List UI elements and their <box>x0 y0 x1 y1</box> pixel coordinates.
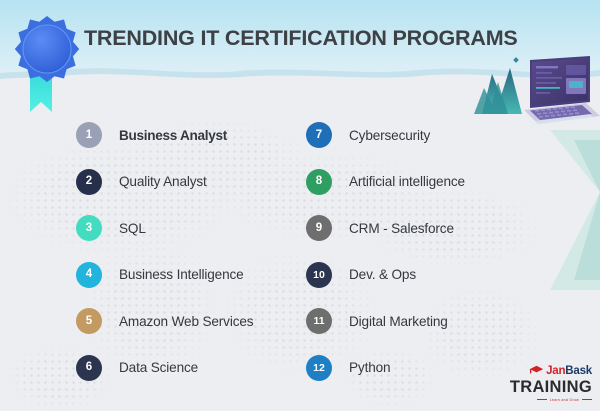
logo-text-jan: Jan <box>546 365 565 377</box>
list-item[interactable]: 3 SQL <box>76 205 306 252</box>
item-label: CRM - Salesforce <box>349 221 454 236</box>
item-label: Dev. & Ops <box>349 267 416 282</box>
item-number-badge: 9 <box>306 215 332 241</box>
logo-tagline: Learn and Grow <box>550 398 579 402</box>
item-number-badge: 4 <box>76 262 102 288</box>
list-item[interactable]: 9 CRM - Salesforce <box>306 205 556 252</box>
list-item[interactable]: 11 Digital Marketing <box>306 298 556 345</box>
certification-list-left: 1 Business Analyst 2 Quality Analyst 3 S… <box>76 112 306 391</box>
logo-tagline-row: Learn and Grow <box>504 398 592 402</box>
item-label: Quality Analyst <box>119 174 207 189</box>
item-number-badge: 8 <box>306 169 332 195</box>
logo-text-bask: Bask <box>565 365 592 377</box>
infographic-root: TRENDING IT CERTIFICATION PROGRAMS <box>0 0 600 411</box>
list-item[interactable]: 8 Artificial intelligence <box>306 159 556 206</box>
list-item[interactable]: 7 Cybersecurity <box>306 112 556 159</box>
item-label: Business Intelligence <box>119 267 244 282</box>
certification-list-right: 7 Cybersecurity 8 Artificial intelligenc… <box>306 112 556 391</box>
graduation-cap-icon <box>529 362 544 380</box>
item-number-badge: 3 <box>76 215 102 241</box>
item-number-badge: 10 <box>306 262 332 288</box>
item-number-badge: 5 <box>76 308 102 334</box>
list-item[interactable]: 5 Amazon Web Services <box>76 298 306 345</box>
page-title: TRENDING IT CERTIFICATION PROGRAMS <box>84 26 518 51</box>
item-label: SQL <box>119 221 146 236</box>
tagline-rule-left <box>537 399 547 400</box>
tagline-rule-right <box>582 399 592 400</box>
item-label: Business Analyst <box>119 128 227 143</box>
item-number-badge: 2 <box>76 169 102 195</box>
item-label: Python <box>349 360 390 375</box>
list-item[interactable]: 1 Business Analyst <box>76 112 306 159</box>
list-item[interactable]: 2 Quality Analyst <box>76 159 306 206</box>
item-label: Artificial intelligence <box>349 174 465 189</box>
item-label: Data Science <box>119 360 198 375</box>
item-number-badge: 1 <box>76 122 102 148</box>
list-item[interactable]: 4 Business Intelligence <box>76 252 306 299</box>
item-number-badge: 12 <box>306 355 332 381</box>
list-item[interactable]: 10 Dev. & Ops <box>306 252 556 299</box>
item-number-badge: 6 <box>76 355 102 381</box>
item-label: Amazon Web Services <box>119 314 253 329</box>
item-number-badge: 7 <box>306 122 332 148</box>
brand-logo[interactable]: Jan Bask TRAINING Learn and Grow <box>504 363 592 403</box>
item-label: Digital Marketing <box>349 314 448 329</box>
list-item[interactable]: 6 Data Science <box>76 345 306 392</box>
item-number-badge: 11 <box>306 308 332 334</box>
logo-text-training: TRAINING <box>504 379 592 396</box>
item-label: Cybersecurity <box>349 128 430 143</box>
logo-wordmark-top: Jan Bask <box>504 363 592 378</box>
award-badge <box>8 8 86 116</box>
